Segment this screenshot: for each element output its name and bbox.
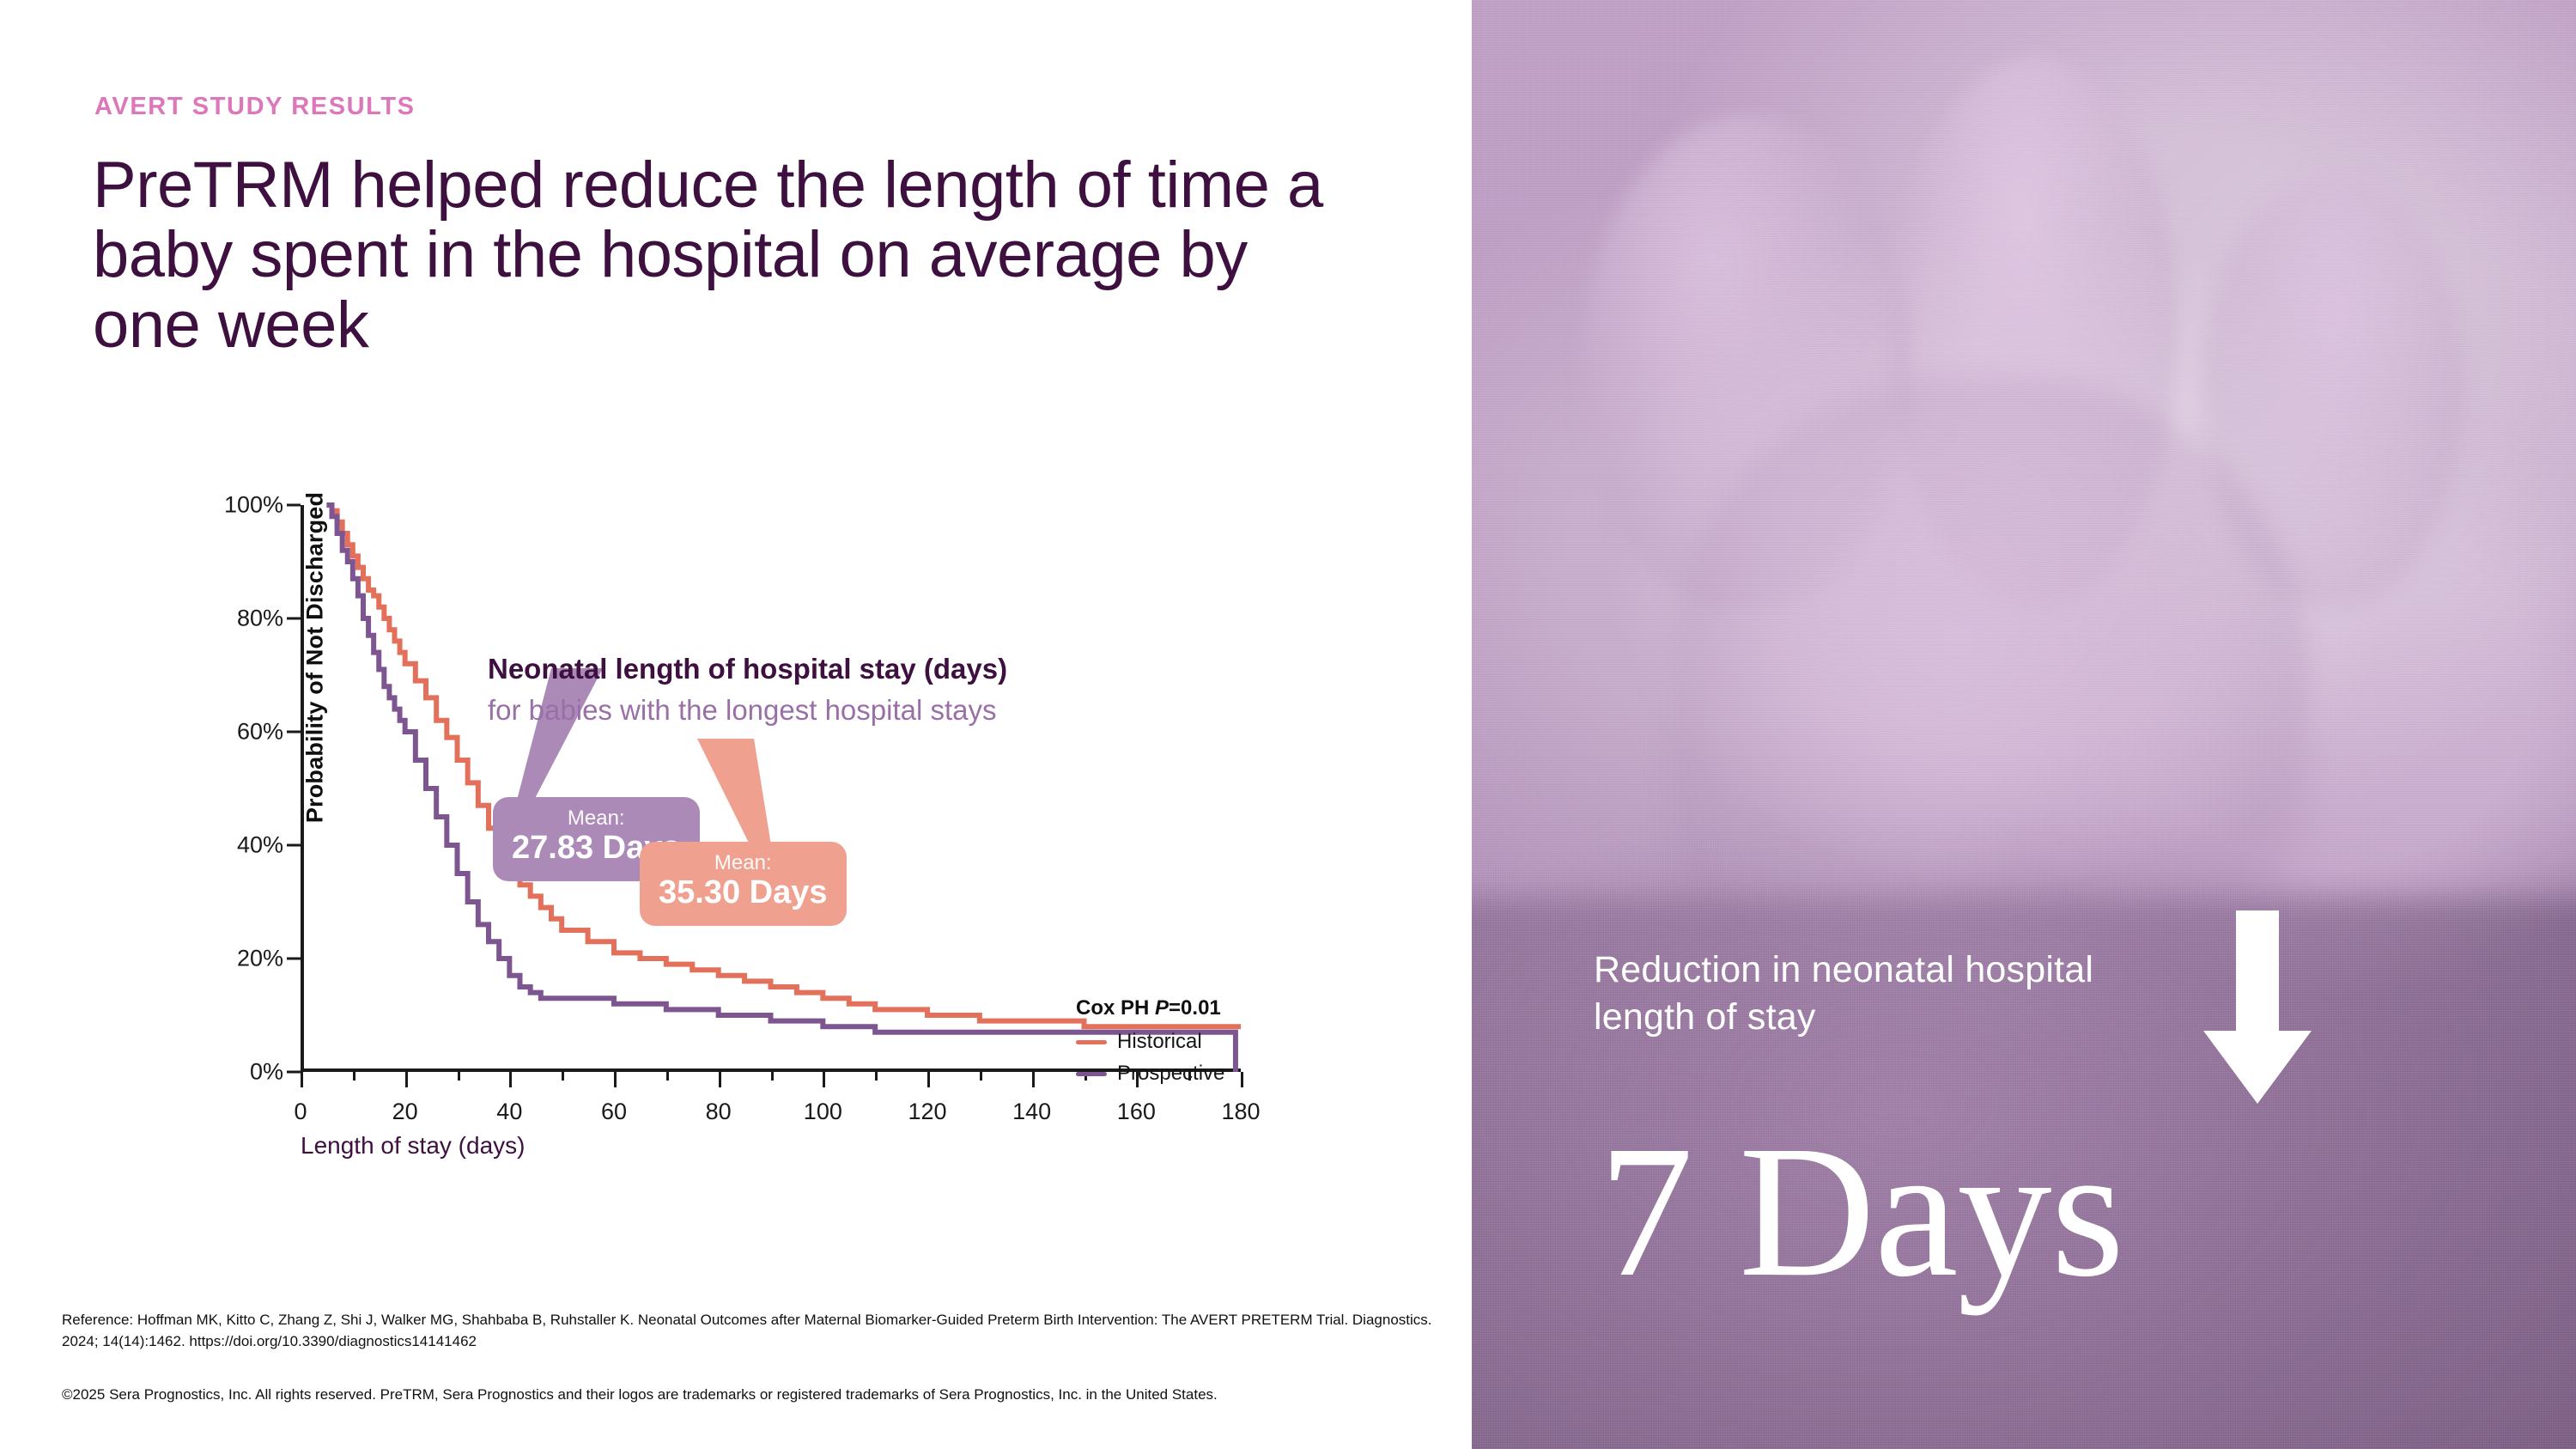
survival-curves [301, 505, 1241, 1072]
page-title: PreTRM helped reduce the length of time … [93, 150, 1364, 360]
x-axis-tick [719, 1072, 721, 1087]
x-axis-minor-tick [353, 1072, 355, 1081]
cox-prefix: Cox PH [1076, 996, 1155, 1020]
legend-label: Prospective [1117, 1062, 1224, 1086]
y-axis-tick-label: 0% [197, 1059, 283, 1086]
y-axis-tick [287, 844, 301, 847]
callout-mean-value: 35.30 Days [659, 874, 828, 912]
x-axis-tick-label: 180 [1221, 1099, 1260, 1125]
legend-color-swatch [1076, 1072, 1107, 1076]
x-axis-tick [823, 1072, 825, 1087]
x-axis-minor-tick [875, 1072, 878, 1081]
x-axis-tick-label: 0 [294, 1099, 307, 1125]
legend-label: Historical [1117, 1030, 1202, 1054]
reduction-days-value: 7 Days [1599, 1117, 2123, 1306]
x-axis-tick-label: 140 [1012, 1099, 1051, 1125]
y-axis-tick [287, 731, 301, 734]
x-axis-tick-label: 80 [706, 1099, 732, 1125]
chart-legend: Cox PH P=0.01 HistoricalProspective [1076, 996, 1224, 1093]
slide: AVERT STUDY RESULTS PreTRM helped reduce… [0, 0, 2576, 1449]
legend-item: Prospective [1076, 1062, 1224, 1086]
reference-text: Reference: Hoffman MK, Kitto C, Zhang Z,… [62, 1310, 1436, 1352]
x-axis-tick [509, 1072, 512, 1087]
chart-subtitle: for babies with the longest hospital sta… [488, 694, 997, 727]
cox-suffix: =0.01 [1169, 996, 1221, 1020]
callout-historical-mean: Mean: 35.30 Days [640, 842, 847, 926]
x-axis-tick-label: 20 [392, 1099, 418, 1125]
callout-mean-label: Mean: [512, 807, 681, 830]
x-axis-tick-label: 60 [601, 1099, 627, 1125]
x-axis-tick [614, 1072, 617, 1087]
x-axis-tick [1032, 1072, 1035, 1087]
x-axis-tick [405, 1072, 408, 1087]
x-axis-minor-tick [562, 1072, 564, 1081]
y-axis-tick-label: 40% [197, 832, 283, 859]
x-axis-tick-label: 120 [908, 1099, 946, 1125]
photo-panel: Reduction in neonatal hospital length of… [1472, 0, 2576, 1449]
y-axis-tick-label: 80% [197, 606, 283, 632]
cox-p-italic: P [1155, 996, 1169, 1020]
curve-historical [326, 505, 1241, 1026]
y-axis-tick [287, 618, 301, 620]
callout-mean-label: Mean: [659, 852, 828, 874]
overlay-caption: Reduction in neonatal hospital length of… [1594, 947, 2143, 1041]
cox-ph-pvalue: Cox PH P=0.01 [1076, 996, 1224, 1020]
legend-items: HistoricalProspective [1076, 1030, 1224, 1086]
x-axis-tick-label: 160 [1117, 1099, 1156, 1125]
x-axis-tick [927, 1072, 930, 1087]
legend-color-swatch [1076, 1040, 1107, 1044]
left-content-panel: AVERT STUDY RESULTS PreTRM helped reduce… [0, 0, 1472, 1449]
x-axis-minor-tick [771, 1072, 774, 1081]
plot-area: 020406080100120140160180 [301, 505, 1241, 1072]
footer: Reference: Hoffman MK, Kitto C, Zhang Z,… [62, 1310, 1436, 1406]
y-axis-tick-label: 60% [197, 719, 283, 746]
y-axis-tick [287, 1071, 301, 1074]
y-axis-tick [287, 958, 301, 960]
y-axis-label-wrap: Probability of Not Discharged [137, 515, 172, 996]
x-axis-minor-tick [666, 1072, 669, 1081]
x-axis-minor-tick [458, 1072, 460, 1081]
x-axis-tick-label: 100 [804, 1099, 842, 1125]
y-axis-tick-label: 100% [197, 492, 283, 519]
y-axis-tick-label: 20% [197, 946, 283, 972]
x-axis-tick [301, 1072, 303, 1087]
copyright-text: ©2025 Sera Prognostics, Inc. All rights … [62, 1385, 1436, 1406]
survival-chart: Probability of Not Discharged 0%20%40%60… [103, 481, 1408, 1228]
eyebrow-label: AVERT STUDY RESULTS [94, 93, 416, 121]
x-axis-label: Length of stay (days) [301, 1132, 525, 1160]
y-axis-tick [287, 504, 301, 507]
chart-title: Neonatal length of hospital stay (days) [488, 653, 1007, 685]
down-arrow-icon [2202, 910, 2313, 1108]
legend-item: Historical [1076, 1030, 1224, 1054]
x-axis-tick-label: 40 [496, 1099, 522, 1125]
x-axis-tick [1241, 1072, 1243, 1087]
x-axis-minor-tick [980, 1072, 982, 1081]
